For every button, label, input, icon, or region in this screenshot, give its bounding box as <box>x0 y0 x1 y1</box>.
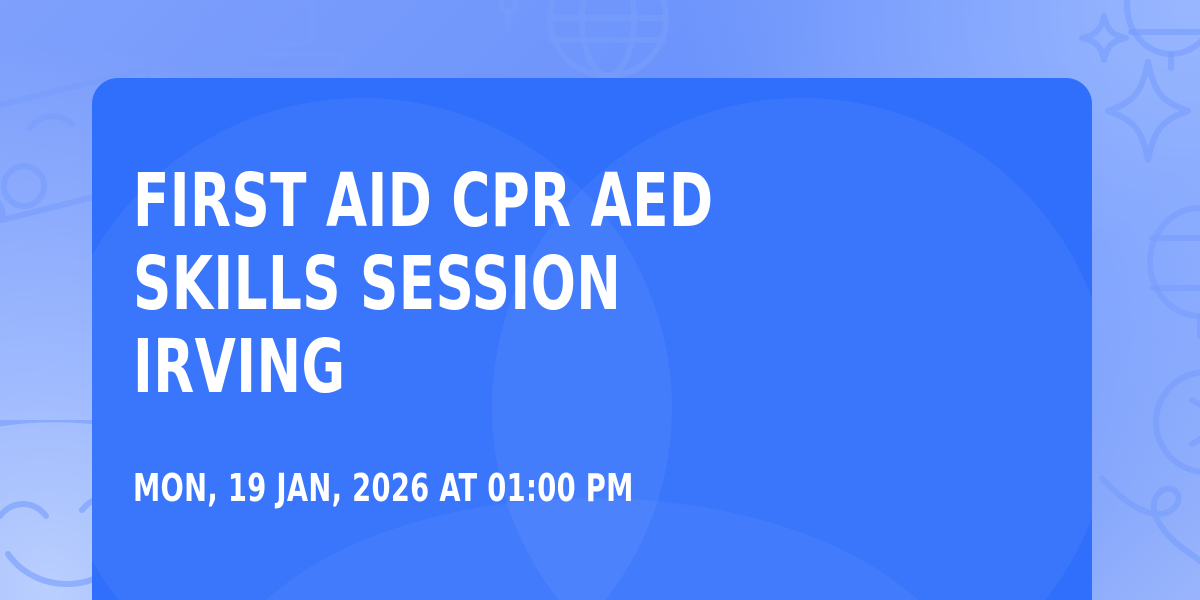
sparkle-small-icon <box>1074 8 1134 68</box>
card-content: First Aid CPR AED Skills Session Irving … <box>133 78 1052 600</box>
event-banner: First Aid CPR AED Skills Session Irving … <box>0 0 1200 600</box>
streamer-icon <box>1096 468 1200 600</box>
globe-icon <box>544 0 672 88</box>
sparkle-icon <box>1104 56 1192 166</box>
balloon-icon <box>1138 198 1200 348</box>
event-title: First Aid CPR AED Skills Session Irving <box>133 160 741 409</box>
microphone-icon <box>488 0 528 36</box>
event-card: First Aid CPR AED Skills Session Irving … <box>92 78 1092 600</box>
event-date-time: Mon, 19 Jan, 2026 at 01:00 PM <box>133 466 634 510</box>
